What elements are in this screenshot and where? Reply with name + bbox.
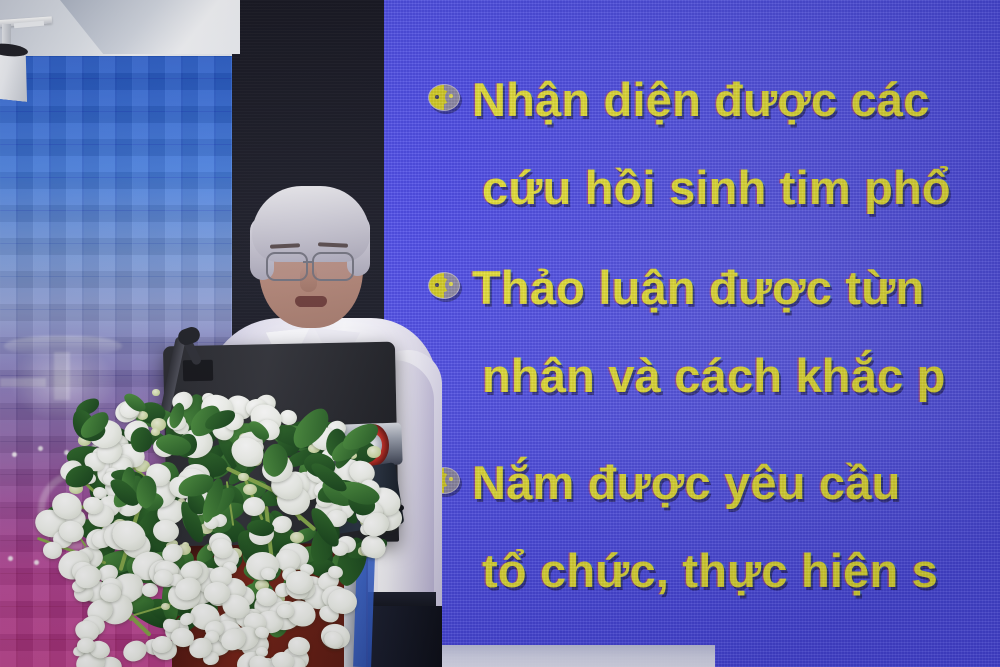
- orchid-bud: [161, 603, 170, 610]
- orchid-bud: [243, 484, 257, 495]
- orchid-bud: [152, 389, 160, 395]
- led-bottom-light-bar: [415, 645, 715, 667]
- orchid-bloom: [243, 497, 265, 516]
- bullet-text-line: tổ chức, thực hiện s: [482, 543, 938, 598]
- bullet-text-line: cứu hồi sinh tim phổ: [482, 160, 951, 215]
- yin-yang-icon: [428, 467, 458, 493]
- bullet-text-line: Thảo luận được từn: [472, 260, 924, 315]
- slide-content: Nhận diện được các cứu hồi sinh tim phổ …: [382, 0, 1000, 667]
- presentation-photo: Nhận diện được các cứu hồi sinh tim phổ …: [0, 0, 1000, 667]
- orchid-bud: [367, 446, 381, 457]
- bullet-text-line: Nhận diện được các: [472, 72, 930, 127]
- bullet-text-line: Nắm được yêu cầu: [472, 455, 901, 510]
- yin-yang-icon: [428, 84, 458, 110]
- orchid-bloom: [276, 603, 294, 618]
- orchid-bud: [151, 428, 160, 435]
- yin-yang-icon: [428, 272, 458, 298]
- bullet-text-line: nhân và cách khắc p: [482, 348, 946, 403]
- orchid-bud: [238, 473, 248, 481]
- orchid-bloom: [204, 582, 230, 604]
